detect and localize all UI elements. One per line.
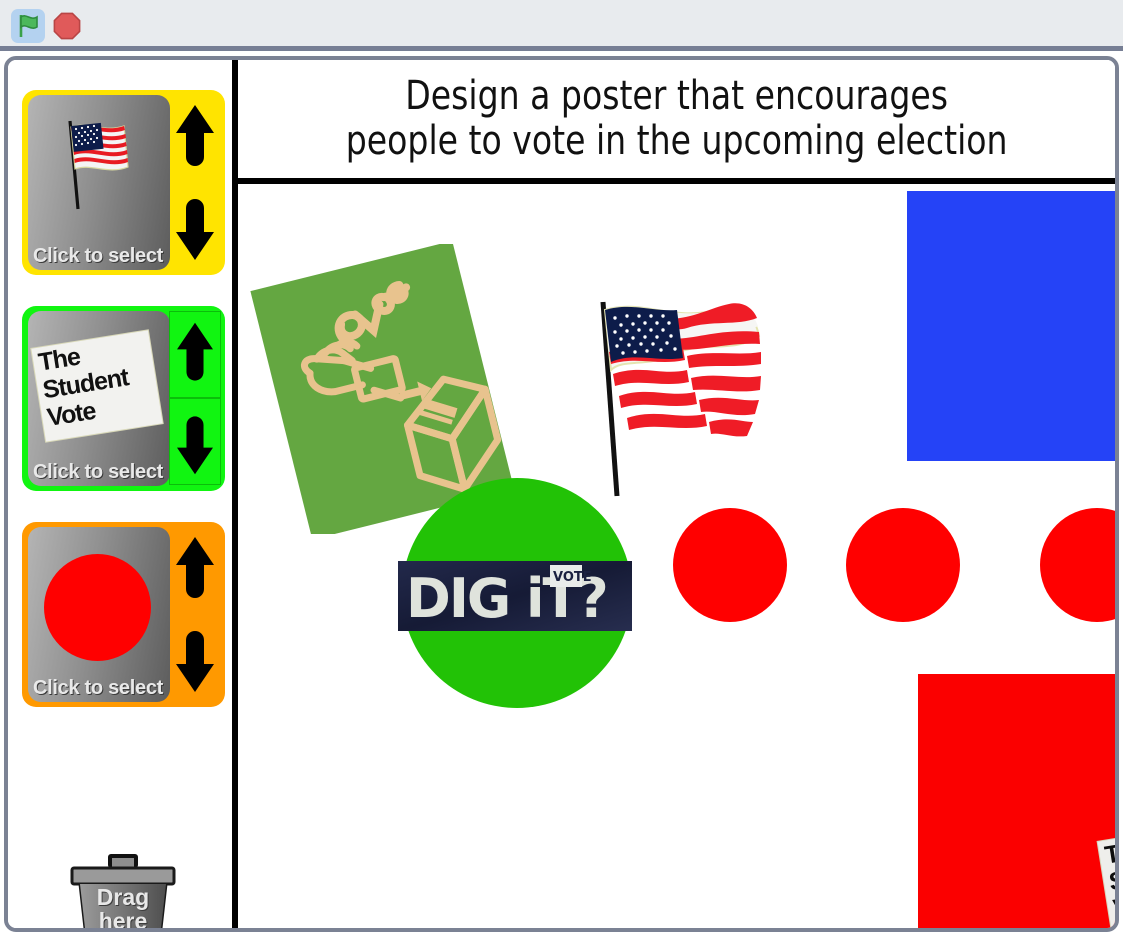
move-up-button[interactable] [169, 95, 221, 182]
sprite-order-arrows [169, 311, 221, 486]
page-title: Design a poster that encourages people t… [346, 74, 1008, 164]
american-flag-sprite[interactable] [583, 296, 768, 501]
sprite-order-arrows [169, 95, 221, 270]
red-circle-sprite-2[interactable] [846, 508, 960, 622]
dig-it-banner-sprite[interactable]: DIG iT? VOTE [398, 561, 632, 631]
svg-text:VOTE: VOTE [553, 570, 592, 585]
up-arrow-icon [173, 319, 217, 391]
down-arrow-icon [173, 406, 217, 478]
move-down-button[interactable] [169, 614, 221, 701]
flag-thumbnail[interactable]: Click to select [28, 95, 170, 270]
sidebar-item-label: Click to select [28, 677, 170, 700]
up-arrow-icon [173, 101, 217, 177]
green-flag-icon [11, 9, 45, 43]
sprite-palette: Click to select The S [8, 60, 232, 928]
sidebar-item-flag-sprite[interactable]: Click to select [22, 90, 225, 275]
stop-sign-icon [53, 12, 81, 40]
stop-button[interactable] [53, 12, 81, 40]
sidebar-item-student-vote-sprite[interactable]: The Student Vote Click to select [22, 306, 225, 491]
american-flag-icon [58, 117, 142, 213]
toolbar [0, 0, 1123, 51]
dig-it-banner-art: DIG iT? VOTE [398, 561, 632, 631]
red-circle-thumbnail[interactable]: Click to select [28, 527, 170, 702]
red-circle-sprite-3[interactable] [1040, 508, 1115, 622]
down-arrow-icon [173, 620, 217, 696]
stage-title-bar: Design a poster that encourages people t… [238, 60, 1115, 184]
move-up-button[interactable] [169, 311, 221, 398]
sprite-order-arrows [169, 527, 221, 702]
sidebar-item-label: Click to select [28, 245, 170, 268]
student-vote-card-art: The Student Vote [31, 330, 162, 441]
stage-canvas[interactable]: Vote DIG iT? [238, 184, 1115, 928]
red-circle-sprite-1[interactable] [673, 508, 787, 622]
sidebar-item-red-circle-sprite[interactable]: Click to select [22, 522, 225, 707]
stage-column: Design a poster that encourages people t… [232, 60, 1115, 928]
red-circle-art [44, 554, 151, 661]
trash-can[interactable]: Drag here to Delete [64, 852, 182, 932]
student-vote-thumbnail[interactable]: The Student Vote Click to select [28, 311, 170, 486]
move-down-button[interactable] [169, 182, 221, 269]
american-flag-icon [583, 296, 768, 501]
sidebar-item-label: Click to select [28, 461, 170, 484]
move-up-button[interactable] [169, 527, 221, 614]
move-down-button[interactable] [169, 398, 221, 485]
trash-label: Drag here to Delete [64, 886, 182, 932]
up-arrow-icon [173, 533, 217, 609]
blue-rectangle-sprite[interactable] [907, 191, 1115, 461]
green-flag-button[interactable] [11, 9, 45, 43]
app-frame: Click to select The S [4, 56, 1119, 932]
trash-line-2: here [64, 910, 182, 932]
red-rectangle-sprite[interactable] [918, 674, 1115, 928]
down-arrow-icon [173, 188, 217, 264]
trash-line-1: Drag [64, 886, 182, 910]
